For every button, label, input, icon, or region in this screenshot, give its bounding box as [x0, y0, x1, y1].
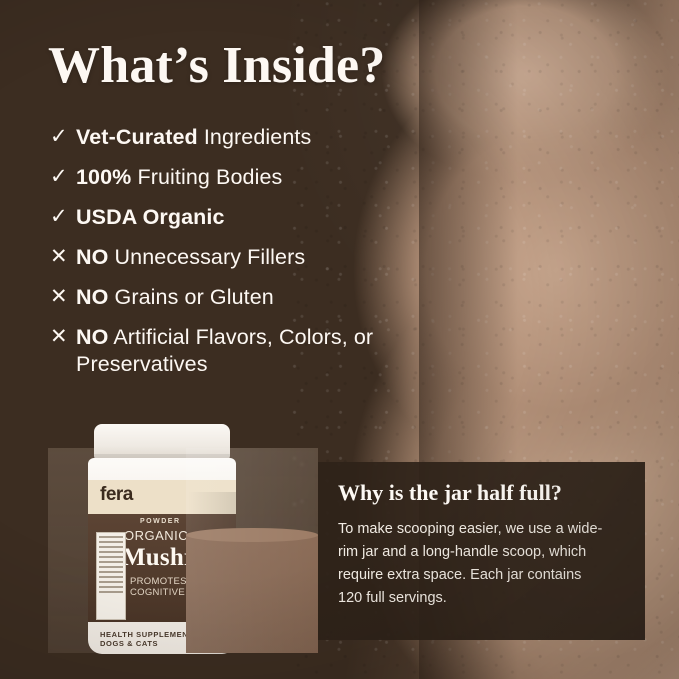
list-item: ✕ NO Artificial Flavors, Colors, or Pres… — [50, 324, 480, 378]
list-item-rest: Artificial Flavors, Colors, or Preservat… — [76, 325, 373, 376]
cross-icon: ✕ — [50, 244, 76, 270]
info-card: Why is the jar half full? To make scoopi… — [318, 462, 645, 640]
jar-panel-sheen — [186, 448, 318, 653]
supplement-facts-panel — [96, 532, 126, 620]
powder-tag: POWDER — [140, 518, 181, 525]
cross-icon: ✕ — [50, 284, 76, 310]
list-item: ✕ NO Unnecessary Fillers — [50, 244, 480, 271]
info-card-title: Why is the jar half full? — [338, 480, 562, 506]
check-icon: ✓ — [50, 164, 76, 190]
list-item-emphasis: Vet-Curated — [76, 125, 198, 149]
list-item-emphasis: USDA Organic — [76, 205, 225, 229]
check-icon: ✓ — [50, 124, 76, 150]
list-item-label: NO Grains or Gluten — [76, 284, 274, 311]
page-title: What’s Inside? — [48, 36, 386, 95]
info-card-body: To make scooping easier, we use a wide-r… — [338, 518, 608, 610]
list-item: ✓ USDA Organic — [50, 204, 480, 231]
list-item-rest: Unnecessary Fillers — [108, 245, 305, 269]
list-item: ✓ Vet-Curated Ingredients — [50, 124, 480, 151]
list-item: ✕ NO Grains or Gluten — [50, 284, 480, 311]
check-icon: ✓ — [50, 204, 76, 230]
list-item-label: USDA Organic — [76, 204, 225, 231]
list-item-emphasis: NO — [76, 285, 108, 309]
list-item-label: NO Unnecessary Fillers — [76, 244, 305, 271]
list-item-rest: Fruiting Bodies — [131, 165, 282, 189]
list-item-rest: Ingredients — [198, 125, 312, 149]
product-infographic: What’s Inside? ✓ Vet-Curated Ingredients… — [0, 0, 679, 679]
brand-name: fera — [100, 484, 133, 506]
list-item-emphasis: NO — [76, 245, 108, 269]
list-item-label: 100% Fruiting Bodies — [76, 164, 282, 191]
list-item-label: Vet-Curated Ingredients — [76, 124, 311, 151]
list-item-emphasis: NO — [76, 325, 108, 349]
list-item-rest: Grains or Gluten — [108, 285, 273, 309]
list-item: ✓ 100% Fruiting Bodies — [50, 164, 480, 191]
list-item-label: NO Artificial Flavors, Colors, or Preser… — [76, 324, 480, 378]
product-line-organic: ORGANIC — [124, 528, 188, 543]
feature-list: ✓ Vet-Curated Ingredients ✓ 100% Fruitin… — [50, 124, 480, 391]
list-item-emphasis: 100% — [76, 165, 131, 189]
cross-icon: ✕ — [50, 324, 76, 350]
